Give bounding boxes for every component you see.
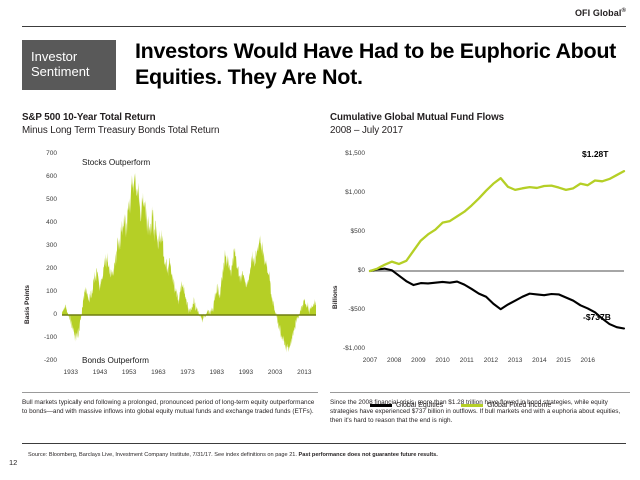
left-chart-title: S&P 500 10-Year Total Return [22,112,322,123]
brand-logo: OFI Global® [575,8,626,18]
y-axis-tick-label: 300 [22,242,57,249]
header-divider [22,26,626,27]
page-number: 12 [9,458,17,467]
x-axis-tick-label: 1973 [174,369,202,376]
footer-divider [22,443,626,444]
source-plain-text: Source: Bloomberg, Barclays Live, Invest… [28,452,299,458]
left-chart-plot-area: Basis Points Stocks Outperform Bonds Out… [22,144,322,399]
y-axis-tick-label: 700 [22,150,57,157]
y-axis-tick-label: $1,500 [330,150,365,157]
x-axis-tick-label: 1993 [232,369,260,376]
y-axis-tick-label: -$1,000 [330,345,365,352]
page-title: Investors Would Have Had to be Euphoric … [135,38,630,90]
x-axis-tick-label: 2013 [290,369,318,376]
registered-mark-icon: ® [621,8,626,14]
section-badge: Investor Sentiment [22,40,116,90]
right-chart-subtitle: 2008 – July 2017 [330,125,630,136]
y-axis-tick-label: $1,000 [330,189,365,196]
source-line: Source: Bloomberg, Barclays Live, Invest… [28,452,438,458]
y-axis-tick-label: 500 [22,196,57,203]
right-chart-panel: Cumulative Global Mutual Fund Flows 2008… [330,112,630,399]
x-axis-tick-label: 1943 [86,369,114,376]
right-chart-title: Cumulative Global Mutual Fund Flows [330,112,630,123]
left-chart-subtitle: Minus Long Term Treasury Bonds Total Ret… [22,125,322,136]
y-axis-tick-label: -$500 [330,306,365,313]
x-axis-tick-label: 1933 [57,369,85,376]
left-chart-svg [22,144,322,399]
callout-fixed-income-value: $1.28T [582,149,608,159]
section-badge-line2: Sentiment [31,64,116,79]
left-footnote-divider [22,392,318,393]
x-axis-tick-label: 1983 [203,369,231,376]
x-axis-tick-label: 1963 [144,369,172,376]
y-axis-tick-label: 600 [22,173,57,180]
y-axis-tick-label: 200 [22,265,57,272]
y-axis-tick-label: 100 [22,288,57,295]
right-footnote-divider [330,392,630,393]
right-chart-plot-area: Billions $1.28T -$737B Global Equities G… [330,144,630,399]
callout-equities-value: -$737B [583,312,611,322]
left-footnote: Bull markets typically end following a p… [22,398,318,416]
y-axis-tick-label: 400 [22,219,57,226]
y-axis-tick-label: $0 [330,267,365,274]
left-chart-note-stocks: Stocks Outperform [82,158,150,167]
y-axis-tick-label: -100 [22,334,57,341]
slide-root: OFI Global® Investor Sentiment Investors… [0,0,640,480]
brand-text: OFI Global [575,8,622,18]
y-axis-tick-label: -200 [22,357,57,364]
right-footnote: Since the 2008 financial crisis, more th… [330,398,630,426]
left-chart-panel: S&P 500 10-Year Total Return Minus Long … [22,112,322,399]
section-badge-line1: Investor [31,49,77,64]
source-disclaimer: Past performance does not guarantee futu… [299,452,438,458]
x-axis-tick-label: 1953 [115,369,143,376]
left-chart-note-bonds: Bonds Outperform [82,356,149,365]
x-axis-tick-label: 2016 [574,357,602,364]
y-axis-tick-label: 0 [22,311,57,318]
y-axis-tick-label: $500 [330,228,365,235]
x-axis-tick-label: 2003 [261,369,289,376]
